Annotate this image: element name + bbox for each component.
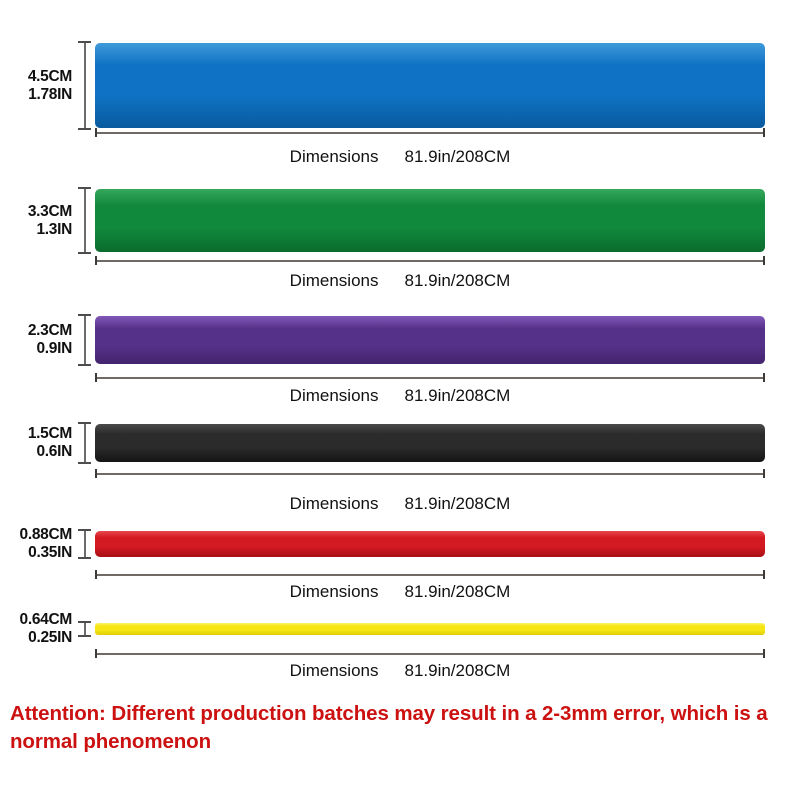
red-band-dimensions-caption: Dimensions81.9in/208CM <box>0 582 800 602</box>
ruler-cap-top <box>78 422 91 424</box>
green-band-height-ruler <box>78 187 91 254</box>
yellow-band <box>95 623 765 635</box>
blue-band-width-in: 1.78IN <box>6 86 72 104</box>
ruler-cap-top <box>78 529 91 531</box>
ruler-line <box>95 260 765 262</box>
dimensions-word: Dimensions <box>290 271 379 290</box>
ruler-stem <box>84 314 86 366</box>
ruler-cap-bottom <box>78 635 91 637</box>
green-band-width-in: 1.3IN <box>6 221 72 239</box>
ruler-cap-bottom <box>78 128 91 130</box>
green-band-length-ruler <box>95 256 765 265</box>
purple-band-size-label: 2.3CM0.9IN <box>6 322 72 358</box>
yellow-band-width-cm: 0.64CM <box>6 611 72 629</box>
black-band-dimensions-caption: Dimensions81.9in/208CM <box>0 494 800 514</box>
red-band <box>95 531 765 557</box>
black-band-size-label: 1.5CM0.6IN <box>6 425 72 461</box>
yellow-band-width-in: 0.25IN <box>6 629 72 647</box>
green-band <box>95 189 765 252</box>
red-band-width-cm: 0.88CM <box>6 526 72 544</box>
ruler-end-right <box>763 570 765 579</box>
black-band-width-in: 0.6IN <box>6 443 72 461</box>
ruler-end-left <box>95 373 97 382</box>
ruler-line <box>95 132 765 134</box>
green-band-dimensions-caption: Dimensions81.9in/208CM <box>0 271 800 291</box>
ruler-end-left <box>95 128 97 137</box>
dimensions-value: 81.9in/208CM <box>404 661 510 680</box>
ruler-end-right <box>763 256 765 265</box>
purple-band <box>95 316 765 364</box>
dimensions-value: 81.9in/208CM <box>404 271 510 290</box>
purple-band-dimensions-caption: Dimensions81.9in/208CM <box>0 386 800 406</box>
yellow-band-height-ruler <box>78 621 91 637</box>
green-band-width-cm: 3.3CM <box>6 203 72 221</box>
blue-band-size-label: 4.5CM1.78IN <box>6 68 72 104</box>
ruler-cap-top <box>78 621 91 623</box>
ruler-end-left <box>95 570 97 579</box>
dimensions-word: Dimensions <box>290 582 379 601</box>
dimensions-value: 81.9in/208CM <box>404 147 510 166</box>
blue-band-length-ruler <box>95 128 765 137</box>
yellow-band-size-label: 0.64CM0.25IN <box>6 611 72 647</box>
dimensions-value: 81.9in/208CM <box>404 582 510 601</box>
red-band-size-label: 0.88CM0.35IN <box>6 526 72 562</box>
ruler-cap-bottom <box>78 364 91 366</box>
blue-band-width-cm: 4.5CM <box>6 68 72 86</box>
yellow-band-dimensions-caption: Dimensions81.9in/208CM <box>0 661 800 681</box>
black-band-length-ruler <box>95 469 765 478</box>
dimensions-word: Dimensions <box>290 386 379 405</box>
ruler-line <box>95 377 765 379</box>
resistance-band-size-chart: 4.5CM1.78INDimensions81.9in/208CM3.3CM1.… <box>0 0 800 800</box>
ruler-stem <box>84 41 86 130</box>
ruler-end-left <box>95 649 97 658</box>
purple-band-height-ruler <box>78 314 91 366</box>
red-band-height-ruler <box>78 529 91 559</box>
purple-band-length-ruler <box>95 373 765 382</box>
attention-note: Attention: Different production batches … <box>10 700 796 756</box>
dimensions-value: 81.9in/208CM <box>404 494 510 513</box>
ruler-end-right <box>763 128 765 137</box>
blue-band-height-ruler <box>78 41 91 130</box>
dimensions-word: Dimensions <box>290 147 379 166</box>
ruler-end-left <box>95 469 97 478</box>
black-band-width-cm: 1.5CM <box>6 425 72 443</box>
dimensions-word: Dimensions <box>290 494 379 513</box>
red-band-length-ruler <box>95 570 765 579</box>
purple-band-width-in: 0.9IN <box>6 340 72 358</box>
ruler-end-right <box>763 649 765 658</box>
ruler-cap-bottom <box>78 557 91 559</box>
ruler-cap-top <box>78 41 91 43</box>
ruler-end-left <box>95 256 97 265</box>
ruler-line <box>95 473 765 475</box>
dimensions-value: 81.9in/208CM <box>404 386 510 405</box>
ruler-cap-bottom <box>78 252 91 254</box>
ruler-line <box>95 574 765 576</box>
black-band <box>95 424 765 462</box>
green-band-size-label: 3.3CM1.3IN <box>6 203 72 239</box>
ruler-stem <box>84 187 86 254</box>
ruler-end-right <box>763 469 765 478</box>
blue-band-dimensions-caption: Dimensions81.9in/208CM <box>0 147 800 167</box>
dimensions-word: Dimensions <box>290 661 379 680</box>
purple-band-width-cm: 2.3CM <box>6 322 72 340</box>
ruler-line <box>95 653 765 655</box>
ruler-cap-top <box>78 187 91 189</box>
ruler-stem <box>84 422 86 464</box>
ruler-cap-bottom <box>78 462 91 464</box>
yellow-band-length-ruler <box>95 649 765 658</box>
ruler-cap-top <box>78 314 91 316</box>
red-band-width-in: 0.35IN <box>6 544 72 562</box>
black-band-height-ruler <box>78 422 91 464</box>
blue-band <box>95 43 765 128</box>
ruler-end-right <box>763 373 765 382</box>
ruler-stem <box>84 529 86 559</box>
